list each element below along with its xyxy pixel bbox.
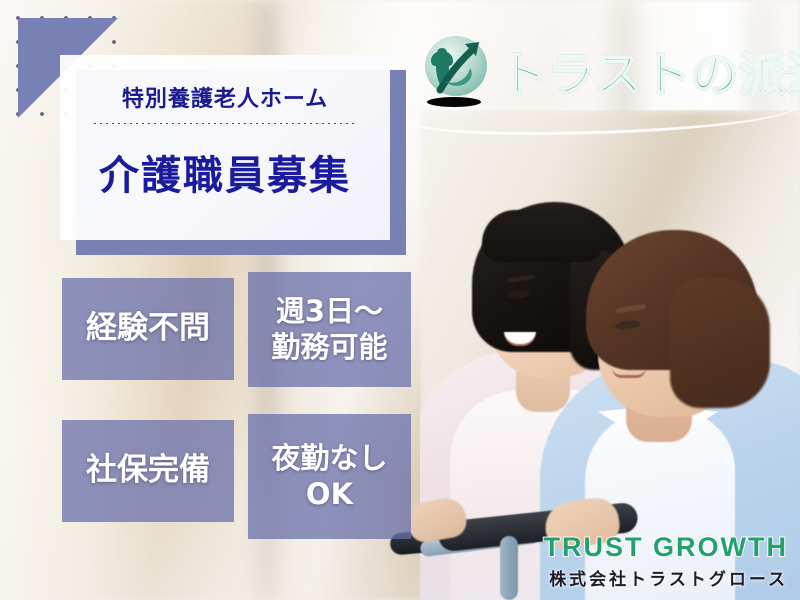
- wheelchair-frame-post: [500, 536, 518, 600]
- senior-hair-side: [670, 278, 770, 408]
- badge-no-night-shift: 夜勤なし OK: [248, 414, 411, 539]
- badge-social-insurance: 社保完備: [62, 420, 234, 522]
- badge-line-1: 社保完備: [86, 452, 210, 490]
- service-logo: トラストの派遣: [418, 28, 790, 116]
- headline-card: 特別養護老人ホーム 介護職員募集: [60, 55, 390, 240]
- page-title: 介護職員募集: [60, 143, 390, 201]
- badge-no-experience: 経験不問: [62, 278, 234, 380]
- brand-name-english: TRUST GROWTH: [544, 532, 788, 563]
- brand-name-japanese: 株式会社トラストグロース: [544, 565, 788, 590]
- badge-line-2: 勤務可能: [271, 330, 387, 365]
- badge-line-2: OK: [271, 477, 387, 512]
- company-brand: TRUST GROWTH 株式会社トラストグロース: [544, 532, 788, 590]
- badge-line-1: 週3日～: [271, 294, 387, 329]
- facility-type-label: 特別養護老人ホーム: [60, 81, 390, 113]
- badge-line-1: 夜勤なし: [271, 441, 387, 476]
- caregiver-bangs: [482, 210, 602, 262]
- recruitment-banner: 特別養護老人ホーム 介護職員募集 経験不問 週3日～ 勤務可能 社保完備 夜勤な…: [0, 0, 800, 600]
- badge-line-1: 経験不問: [86, 310, 210, 348]
- badge-three-days-week: 週3日～ 勤務可能: [248, 272, 411, 387]
- dotted-divider: [92, 122, 358, 125]
- senior-smile: [612, 368, 646, 378]
